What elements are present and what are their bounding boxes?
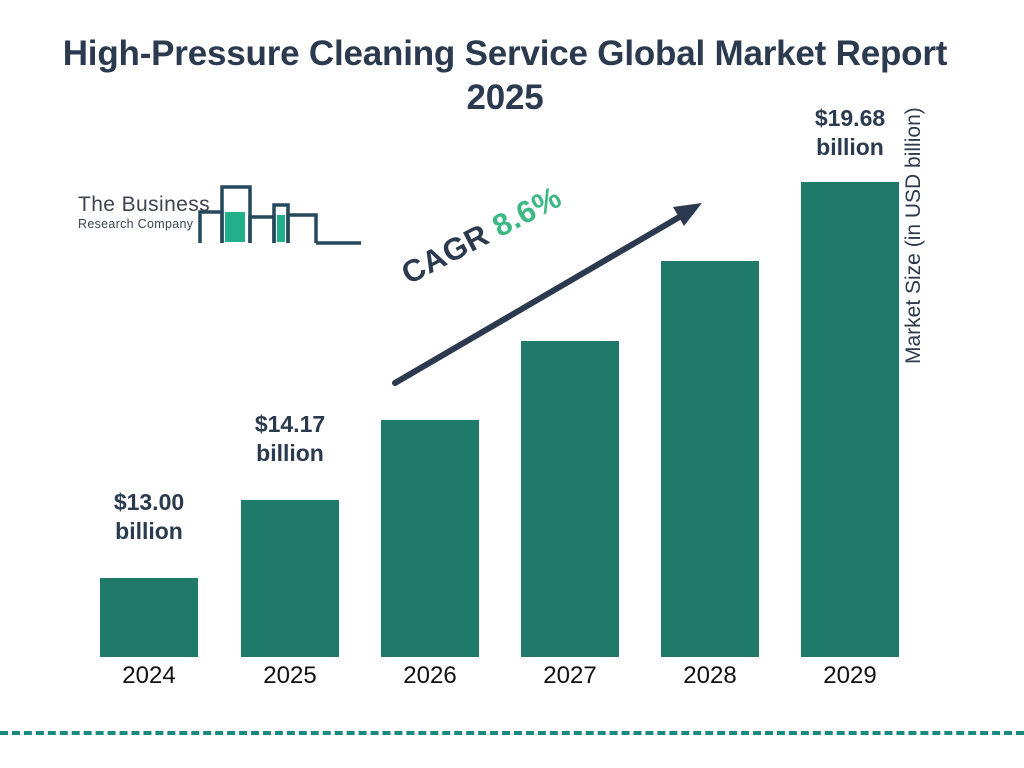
company-logo: The Business Research Company xyxy=(78,190,288,252)
x-tick-2024: 2024 xyxy=(99,662,199,690)
bar-value-amount-2025: $14.17 xyxy=(215,410,365,439)
market-size-bar-chart: High-Pressure Cleaning Service Global Ma… xyxy=(0,0,1024,768)
bar-2025 xyxy=(241,500,339,657)
bar-2024 xyxy=(100,578,198,657)
x-tick-2025: 2025 xyxy=(240,662,340,690)
x-tick-2028: 2028 xyxy=(660,662,760,690)
bar-2029 xyxy=(801,182,899,657)
bar-value-label-2025: $14.17 billion xyxy=(215,410,365,468)
x-tick-2026: 2026 xyxy=(380,662,480,690)
logo-line-secondary: Research Company xyxy=(78,217,213,232)
footer-divider xyxy=(0,731,1024,735)
x-tick-2027: 2027 xyxy=(520,662,620,690)
y-axis-title: Market Size (in USD billion) xyxy=(902,34,936,364)
bar-value-unit-2024: billion xyxy=(74,517,224,546)
bar-value-amount-2024: $13.00 xyxy=(74,488,224,517)
bar-value-unit-2025: billion xyxy=(215,439,365,468)
x-tick-2029: 2029 xyxy=(800,662,900,690)
bar-2026 xyxy=(381,420,479,657)
logo-bar-chart-icon xyxy=(198,181,363,251)
logo-wordmark: The Business Research Company xyxy=(78,194,213,232)
logo-line-primary: The Business xyxy=(78,194,213,216)
bar-value-label-2024: $13.00 billion xyxy=(74,488,224,546)
